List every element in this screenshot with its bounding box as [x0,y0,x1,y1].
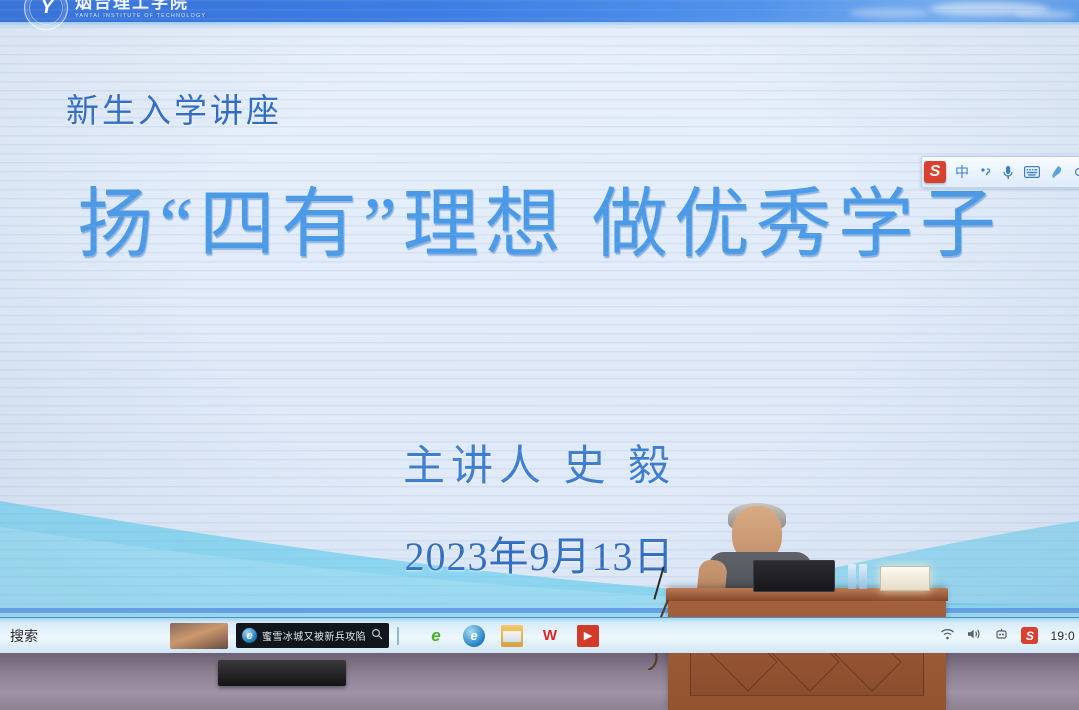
system-tray[interactable]: S 19:0 [940,627,1075,644]
punctuation-mode-icon[interactable] [978,166,992,179]
assistant-icon[interactable] [994,628,1009,643]
slide-speaker-line: 主讲人 史 毅 [0,432,1079,493]
wifi-icon[interactable] [940,628,955,643]
taskbar-clock[interactable]: 19:0 [1050,629,1075,643]
news-thumbnail[interactable] [170,623,228,649]
voice-input-icon[interactable] [1001,165,1015,180]
volume-icon[interactable] [967,628,982,643]
windows-taskbar[interactable]: 搜索 e 蜜雪冰城又被新兵攻陷 e e W ▶ [0,617,1079,653]
university-seal-icon: Y [24,0,68,30]
news-headline[interactable]: 蜜雪冰城又被新兵攻陷 [262,628,366,643]
projection-screen: Y 烟台理工学院 YANTAI INSTITUTE OF TECHNOLOGY … [0,0,1079,617]
taskbar-app-media-player[interactable]: ▶ [577,625,599,647]
soft-keyboard-icon[interactable] [1024,166,1040,178]
internet-explorer-icon: e [242,628,257,643]
ime-menu-icon[interactable] [1072,166,1079,178]
taskbar-search-input[interactable]: 搜索 [10,626,170,646]
taskbar-divider [397,627,399,645]
language-mode-icon[interactable]: 中 [955,162,969,182]
water-bottle [848,564,856,589]
sogou-ime-tray-icon[interactable]: S [1021,627,1038,644]
taskbar-app-buttons[interactable]: e e W ▶ [425,625,599,647]
slide-main-title: 扬“四有”理想 做优秀学子 [0,184,1079,266]
news-widget[interactable]: e 蜜雪冰城又被新兵攻陷 [236,623,389,648]
sogou-ime-toolbar[interactable]: S 中 [921,156,1079,188]
sogou-logo-icon[interactable]: S [924,161,946,183]
laptop-on-podium [753,560,835,592]
floor-monitor-speaker [218,660,346,686]
university-logo: Y 烟台理工学院 YANTAI INSTITUTE OF TECHNOLOGY [24,0,206,30]
university-name-cn: 烟台理工学院 [75,0,206,11]
name-plate-box [880,566,930,591]
lecture-hall-photo: Y 烟台理工学院 YANTAI INSTITUTE OF TECHNOLOGY … [0,0,1079,710]
slide-subtitle: 新生入学讲座 [66,84,282,132]
taskbar-app-360-browser[interactable]: e [425,625,447,647]
search-icon[interactable] [371,628,383,643]
cloud-shape [1015,10,1075,19]
toolbox-icon[interactable] [1049,165,1063,179]
water-bottle [859,564,867,589]
taskbar-app-wps-office[interactable]: W [539,625,561,647]
cloud-shape [849,8,929,18]
university-name-en: YANTAI INSTITUTE OF TECHNOLOGY [75,14,206,20]
university-wordmark: 烟台理工学院 YANTAI INSTITUTE OF TECHNOLOGY [75,0,206,22]
taskbar-app-internet-explorer[interactable]: e [463,625,485,647]
seal-monogram: Y [41,0,52,19]
taskbar-app-file-explorer[interactable] [501,625,523,647]
